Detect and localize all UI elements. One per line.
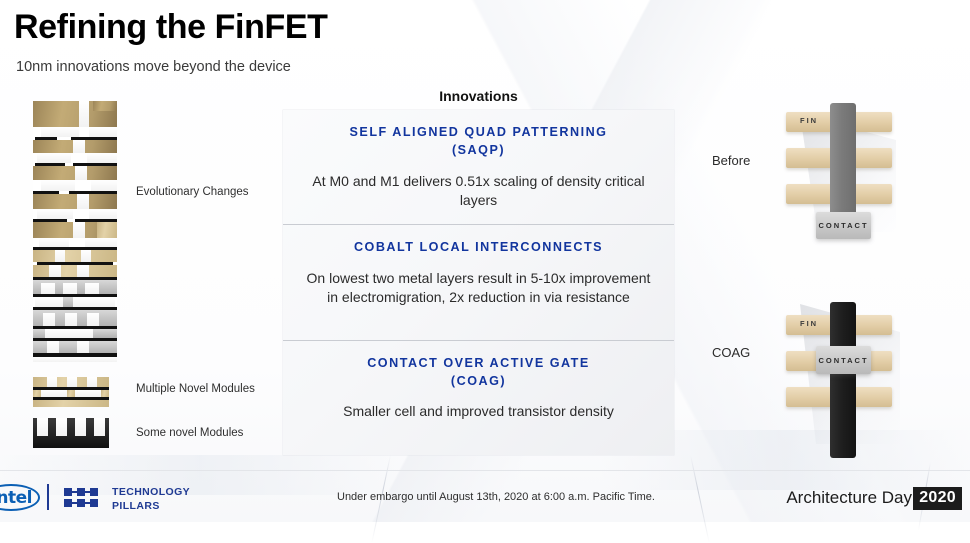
innovation-card-cobalt[interactable]: COBALT LOCAL INTERCONNECTS On lowest two… [283,225,674,340]
cross-section-stack-image [33,101,117,362]
left-label-evolutionary-changes: Evolutionary Changes [136,186,249,198]
innovation-card-title-line1: SELF ALIGNED QUAD PATTERNING [350,125,608,139]
event-year-badge: 2020 [913,487,962,510]
innovation-card-title: SELF ALIGNED QUAD PATTERNING (SAQP) [350,123,608,160]
contact-label: CONTACT [818,356,868,365]
page-title: Refining the FinFET [14,9,327,46]
footer-divider-line [0,470,970,471]
technology-pillars-icon [64,488,102,507]
technology-pillars-text: TECHNOLOGY PILLARS [112,486,190,514]
innovation-card-coag[interactable]: CONTACT OVER ACTIVE GATE (COAG) Smaller … [283,341,674,455]
footer-vertical-divider [47,484,49,510]
innovation-card-title-line1: CONTACT OVER ACTIVE GATE [367,356,590,370]
multiple-novel-modules-image [33,377,109,407]
diagram-label-before: Before [712,153,750,168]
contact-label: CONTACT [818,221,868,230]
innovation-card-title-line2: (COAG) [451,374,506,388]
embargo-notice: Under embargo until August 13th, 2020 at… [337,491,655,503]
left-label-multiple-novel-modules: Multiple Novel Modules [136,383,255,395]
innovation-card-title-line2: (SAQP) [452,143,505,157]
page-subtitle: 10nm innovations move beyond the device [16,59,291,75]
diagram-label-coag: COAG [712,345,750,360]
innovation-card-body: On lowest two metal layers result in 5-1… [306,269,651,309]
innovation-card-title: COBALT LOCAL INTERCONNECTS [354,238,603,256]
event-name: Architecture Day [786,488,912,508]
pillars-line-2: PILLARS [112,500,190,514]
fin-label: FIN [800,319,818,328]
innovation-card-body: Smaller cell and improved transistor den… [343,402,614,422]
innovation-card-body: At M0 and M1 delivers 0.51x scaling of d… [306,172,651,212]
innovations-panel: SELF ALIGNED QUAD PATTERNING (SAQP) At M… [283,110,674,455]
diagram-before: FIN CONTACT [780,100,910,245]
left-label-some-novel-modules: Some novel Modules [136,427,243,439]
pillars-line-1: TECHNOLOGY [112,486,190,500]
innovations-heading: Innovations [283,88,674,104]
gate-bar [830,302,856,458]
innovation-card-saqp[interactable]: SELF ALIGNED QUAD PATTERNING (SAQP) At M… [283,110,674,225]
diagram-coag: FIN CONTACT [780,290,910,455]
innovation-card-title-line1: COBALT LOCAL INTERCONNECTS [354,240,603,254]
fin-label: FIN [800,116,818,125]
contact-box: CONTACT [816,212,871,239]
contact-box: CONTACT [816,346,871,374]
some-novel-modules-image [33,418,109,448]
innovation-card-title: CONTACT OVER ACTIVE GATE (COAG) [367,354,590,391]
